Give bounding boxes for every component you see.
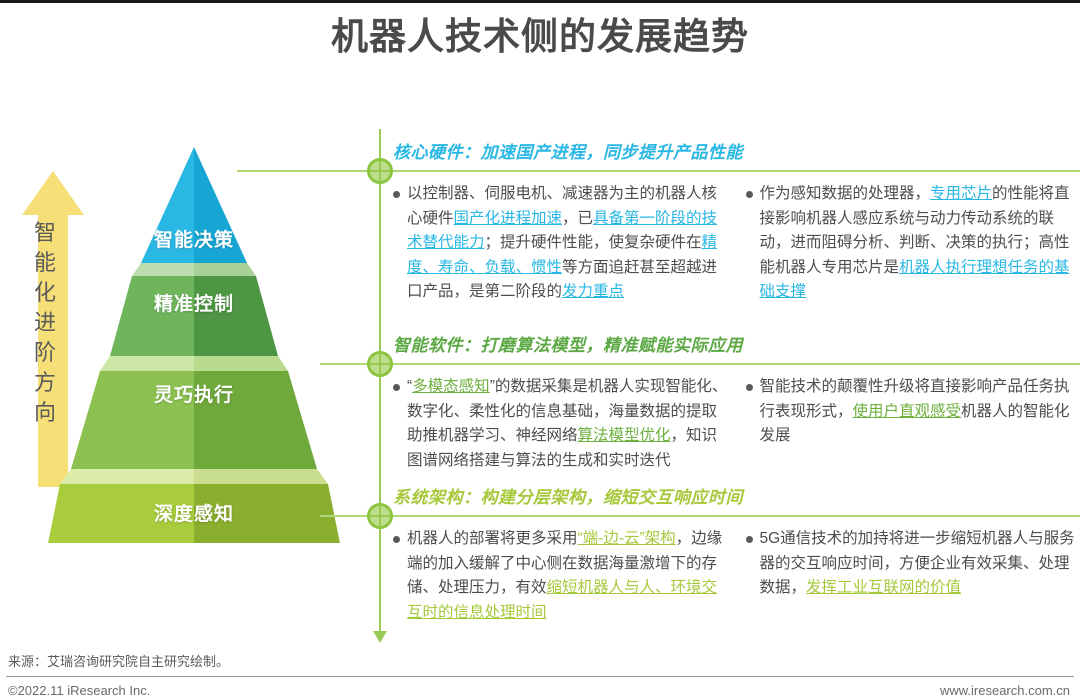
bullet-item: 智能技术的颠覆性升级将直接影响产品任务执行表现形式，使用户直观感受机器人的智能化… [746, 375, 1080, 449]
bullet-text: 智能技术的颠覆性升级将直接影响产品任务执行表现形式，使用户直观感受机器人的智能化… [760, 375, 1080, 449]
page-title: 机器人技术侧的发展趋势 [0, 11, 1080, 63]
bullet-text: 5G通信技术的加持将进一步缩短机器人与服务器的交互响应时间，方便企业有效采集、处… [760, 527, 1080, 601]
bullet-dot-icon [746, 384, 753, 391]
section-heading-1: 智能软件：打磨算法模型，精准赋能实际应用 [393, 334, 1080, 358]
section-1-column-0: “多模态感知”的数据采集是机器人实现智能化、数字化、柔性化的信息基础，海量数据的… [393, 375, 728, 473]
bullet-item: “多模态感知”的数据采集是机器人实现智能化、数字化、柔性化的信息基础，海量数据的… [393, 375, 728, 473]
pyramid-level-2-bevel-right [194, 356, 288, 371]
bullet-item: 机器人的部署将更多采用“端-边-云”架构，边缘端的加入缓解了中心侧在数据海量激增… [393, 527, 728, 625]
bullet-item: 5G通信技术的加持将进一步缩短机器人与服务器的交互响应时间，方便企业有效采集、处… [746, 527, 1080, 601]
bullet-item: 以控制器、伺服电机、减速器为主的机器人核心硬件国产化进程加速，已具备第一阶段的技… [393, 182, 728, 305]
pyramid-label-3: 深度感知 [44, 499, 344, 526]
section-1-column-1: 智能技术的颠覆性升级将直接影响产品任务执行表现形式，使用户直观感受机器人的智能化… [746, 375, 1080, 473]
pyramid-level-1-bevel-left [132, 263, 194, 276]
bullet-dot-icon [393, 384, 400, 391]
bullet-text: “多模态感知”的数据采集是机器人实现智能化、数字化、柔性化的信息基础，海量数据的… [407, 375, 728, 473]
source-note: 来源：艾瑞咨询研究院自主研究绘制。 [8, 651, 229, 670]
copyright-text: ©2022.11 iResearch Inc. [8, 683, 150, 698]
timeline-node-2 [367, 503, 393, 529]
pyramid-level-1-left [110, 276, 194, 356]
bullet-dot-icon [393, 191, 400, 198]
footer-divider [6, 676, 1074, 677]
pyramid-diagram: 智能决策 精准控制 灵巧执行 深度感知 [44, 143, 344, 543]
pyramid-label-2: 灵巧执行 [44, 380, 344, 407]
section-core-hardware: 核心硬件：加速国产进程，同步提升产品性能 以控制器、伺服电机、减速器为主的机器人… [393, 141, 1080, 305]
section-intelligent-software: 智能软件：打磨算法模型，精准赋能实际应用 “多模态感知”的数据采集是机器人实现智… [393, 334, 1080, 473]
timeline-arrow-icon [373, 631, 387, 643]
pyramid-label-0: 智能决策 [44, 225, 344, 252]
bullet-item: 作为感知数据的处理器，专用芯片的性能将直接影响机器人感应系统与动力传动系统的联动… [746, 182, 1080, 305]
bullet-dot-icon [746, 536, 753, 543]
bullet-text: 机器人的部署将更多采用“端-边-云”架构，边缘端的加入缓解了中心侧在数据海量激增… [407, 527, 728, 625]
timeline-spine [379, 129, 381, 638]
bullet-dot-icon [393, 536, 400, 543]
pyramid-level-1-right [194, 276, 278, 356]
pyramid-level-1-bevel-right [194, 263, 256, 276]
bullet-text: 以控制器、伺服电机、减速器为主的机器人核心硬件国产化进程加速，已具备第一阶段的技… [407, 182, 728, 305]
section-heading-2: 系统架构：构建分层架构，缩短交互响应时间 [393, 486, 1080, 510]
pyramid-level-3-bevel-left [60, 469, 194, 484]
pyramid-label-1: 精准控制 [44, 289, 344, 316]
section-2-column-0: 机器人的部署将更多采用“端-边-云”架构，边缘端的加入缓解了中心侧在数据海量激增… [393, 527, 728, 625]
pyramid-level-3-bevel-right [194, 469, 328, 484]
section-system-architecture: 系统架构：构建分层架构，缩短交互响应时间 机器人的部署将更多采用“端-边-云”架… [393, 486, 1080, 625]
timeline-node-1 [367, 351, 393, 377]
section-0-column-1: 作为感知数据的处理器，专用芯片的性能将直接影响机器人感应系统与动力传动系统的联动… [746, 182, 1080, 305]
bullet-dot-icon [746, 191, 753, 198]
connector-stub-0 [237, 170, 383, 172]
timeline-node-0 [367, 158, 393, 184]
pyramid-level-2-bevel-left [100, 356, 194, 371]
section-2-column-1: 5G通信技术的加持将进一步缩短机器人与服务器的交互响应时间，方便企业有效采集、处… [746, 527, 1080, 625]
bullet-text: 作为感知数据的处理器，专用芯片的性能将直接影响机器人感应系统与动力传动系统的联动… [760, 182, 1080, 305]
pyramid-svg [44, 143, 344, 543]
section-heading-0: 核心硬件：加速国产进程，同步提升产品性能 [393, 141, 1080, 165]
infographic-page: 机器人技术侧的发展趋势 智能化进阶方向 [0, 0, 1080, 699]
website-url[interactable]: www.iresearch.com.cn [940, 683, 1070, 698]
section-0-column-0: 以控制器、伺服电机、减速器为主的机器人核心硬件国产化进程加速，已具备第一阶段的技… [393, 182, 728, 305]
